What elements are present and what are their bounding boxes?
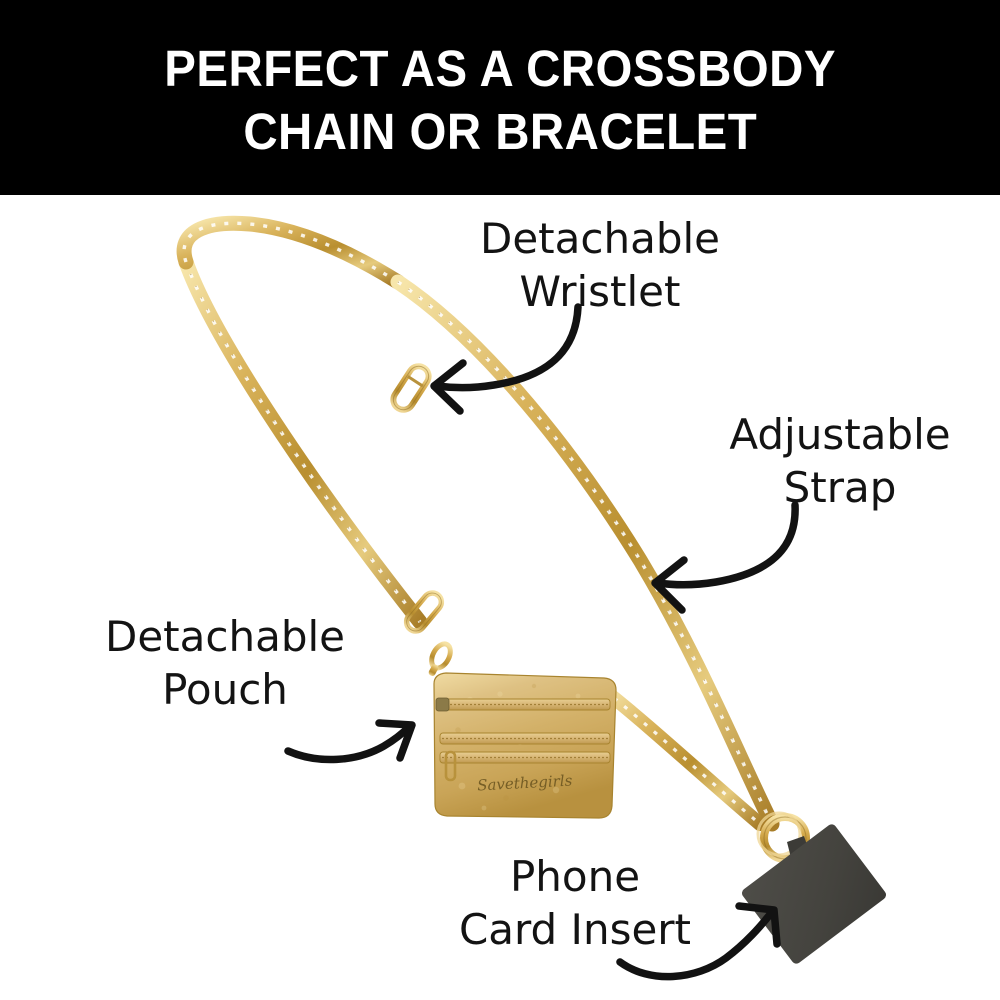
- label-adjustable-strap: Adjustable Strap: [690, 408, 990, 514]
- arrow-detachable-wristlet: [434, 307, 578, 411]
- infographic-canvas: PERFECT AS A CROSSBODY CHAIN OR BRACELET: [0, 0, 1000, 1000]
- label-phone-card-insert: Phone Card Insert: [420, 850, 730, 956]
- arrow-adjustable-strap: [655, 505, 795, 610]
- label-detachable-wristlet: Detachable Wristlet: [430, 212, 770, 318]
- label-detachable-pouch: Detachable Pouch: [55, 610, 395, 716]
- arrow-detachable-pouch: [288, 723, 412, 760]
